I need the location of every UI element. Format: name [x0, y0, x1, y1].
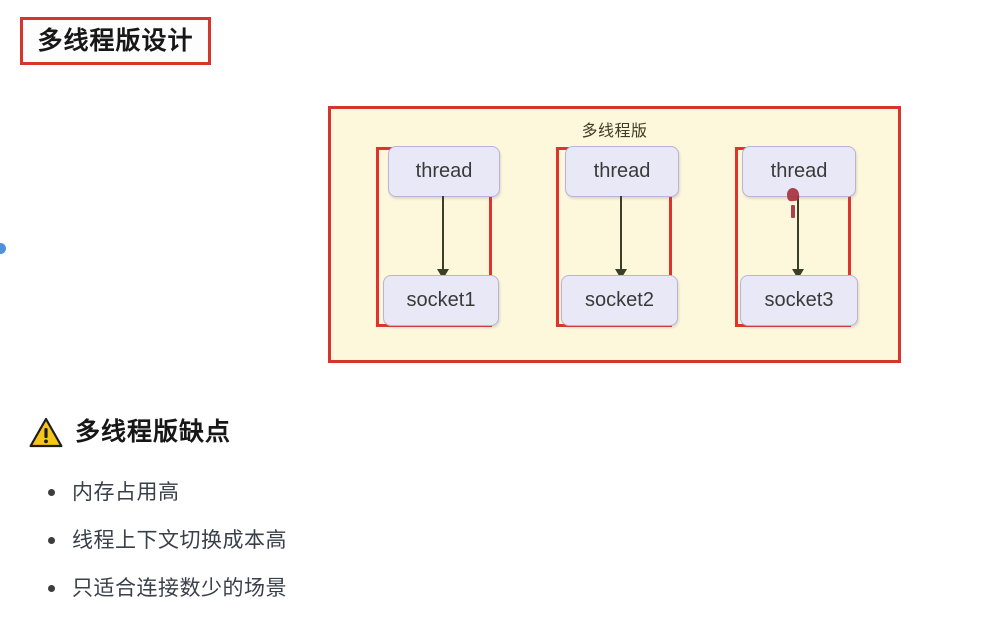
- thread-socket-column: thread socket1: [376, 147, 492, 327]
- list-item: 线程上下文切换成本高: [45, 530, 545, 551]
- arrow-down-icon: [620, 196, 622, 270]
- list-item: 只适合连接数少的场景: [45, 578, 545, 599]
- multithread-diagram: 多线程版 thread socket1 thread socket2 threa…: [328, 106, 901, 363]
- bullet-icon: [48, 489, 55, 496]
- list-item-label: 内存占用高: [72, 481, 180, 504]
- thread-socket-column: thread socket2: [556, 147, 672, 327]
- thread-socket-column: thread socket3: [735, 147, 851, 327]
- warning-icon: [29, 417, 63, 448]
- left-edge-marker: [0, 243, 6, 254]
- thread-node: thread: [565, 146, 679, 197]
- cons-heading: 多线程版缺点: [75, 420, 231, 445]
- cons-heading-row: 多线程版缺点: [29, 417, 231, 448]
- cons-list: 内存占用高 线程上下文切换成本高 只适合连接数少的场景: [45, 482, 545, 626]
- bullet-icon: [48, 537, 55, 544]
- list-item-label: 线程上下文切换成本高: [72, 529, 287, 552]
- page-title: 多线程版设计: [37, 29, 193, 54]
- diagram-label: 多线程版: [331, 117, 898, 141]
- diagram-columns: thread socket1 thread socket2 thread soc…: [331, 147, 898, 327]
- bullet-icon: [48, 585, 55, 592]
- thread-node: thread: [742, 146, 856, 197]
- thread-node: thread: [388, 146, 500, 197]
- socket-node: socket2: [561, 275, 678, 326]
- list-item: 内存占用高: [45, 482, 545, 503]
- page-title-box: 多线程版设计: [20, 17, 211, 65]
- arrow-down-icon: [797, 196, 799, 270]
- socket-node: socket3: [740, 275, 858, 326]
- list-item-label: 只适合连接数少的场景: [72, 577, 287, 600]
- socket-node: socket1: [383, 275, 499, 326]
- arrow-down-icon: [442, 196, 444, 270]
